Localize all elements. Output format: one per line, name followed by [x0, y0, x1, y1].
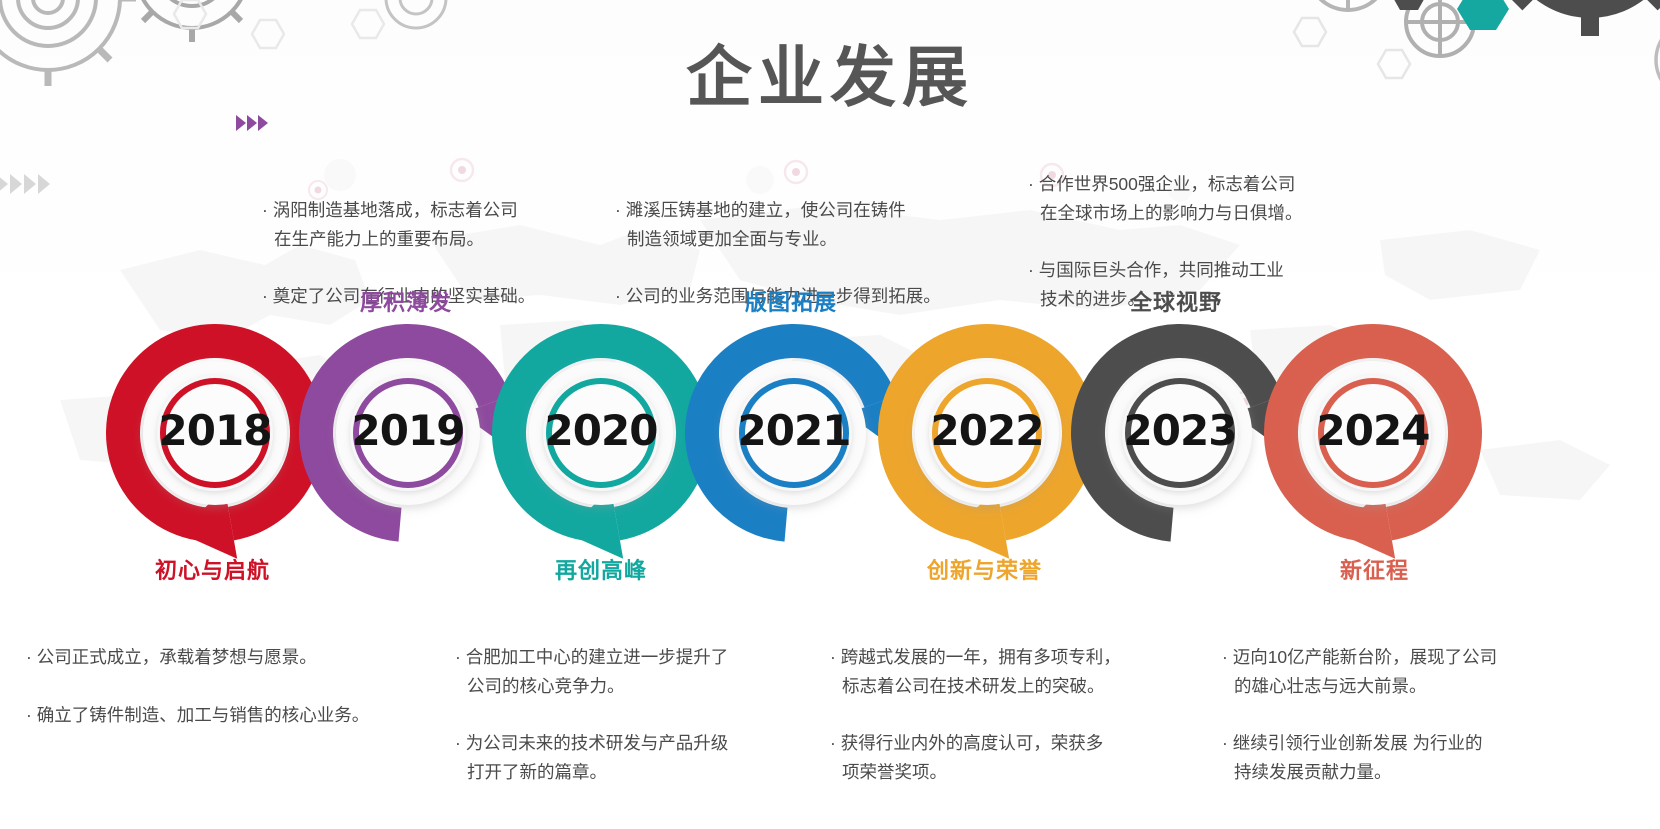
- chevron-left-decoration: [0, 172, 66, 196]
- description-line: · 迈向10亿产能新台阶，展现了公司 的雄心壮志与远大前景。: [1222, 643, 1552, 700]
- description-line: · 合肥加工中心的建立进一步提升了 公司的核心竞争力。: [455, 643, 785, 700]
- description-line: · 为公司未来的技术研发与产品升级 打开了新的篇章。: [455, 729, 785, 786]
- description-block-2022: · 跨越式发展的一年，拥有多项专利， 标志着公司在技术研发上的突破。 · 获得行…: [830, 615, 1180, 814]
- year-label-2018: 2018: [150, 406, 280, 455]
- description-line: · 合作世界500强企业，标志着公司 在全球市场上的影响力与日俱增。: [1028, 170, 1348, 227]
- year-label-2024: 2024: [1308, 406, 1438, 455]
- year-label-2020: 2020: [536, 406, 666, 455]
- description-block-2024: · 迈向10亿产能新台阶，展现了公司 的雄心壮志与远大前景。 · 继续引领行业创…: [1222, 615, 1552, 814]
- year-label-2021: 2021: [729, 406, 859, 455]
- slide-canvas: 企业发展 · 涡阳制造基地落成，标志着公司 在生产能力上的重要布局。 · 奠定了…: [0, 0, 1660, 829]
- year-label-2019: 2019: [343, 406, 473, 455]
- description-line: · 跨越式发展的一年，拥有多项专利， 标志着公司在技术研发上的突破。: [830, 643, 1180, 700]
- description-line: · 获得行业内外的高度认可，荣获多 项荣誉奖项。: [830, 729, 1180, 786]
- page-title: 企业发展: [0, 24, 1660, 120]
- description-line: · 确立了铸件制造、加工与销售的核心业务。: [26, 701, 446, 729]
- description-block-2018: · 公司正式成立，承载着梦想与愿景。 · 确立了铸件制造、加工与销售的核心业务。: [26, 615, 446, 758]
- description-line: · 涡阳制造基地落成，标志着公司 在生产能力上的重要布局。: [262, 196, 562, 253]
- description-line: · 濉溪压铸基地的建立，使公司在铸件 制造领域更加全面与专业。: [615, 196, 985, 253]
- description-line: · 继续引领行业创新发展 为行业的 持续发展贡献力量。: [1222, 729, 1552, 786]
- year-label-2023: 2023: [1115, 406, 1245, 455]
- year-label-2022: 2022: [922, 406, 1052, 455]
- description-block-2020: · 合肥加工中心的建立进一步提升了 公司的核心竞争力。 · 为公司未来的技术研发…: [455, 615, 785, 814]
- description-line: · 公司正式成立，承载着梦想与愿景。: [26, 643, 446, 671]
